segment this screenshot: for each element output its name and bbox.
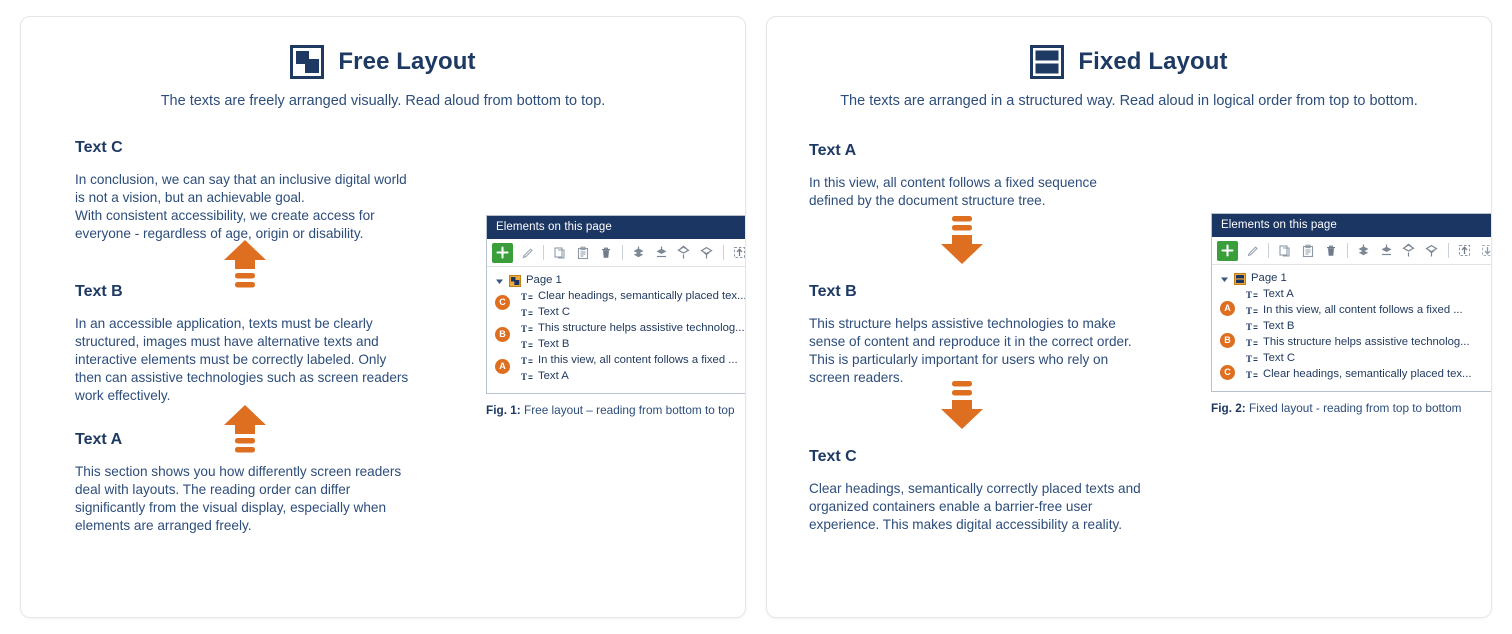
text-block-b-fixed: Text B This structure helps assistive te… xyxy=(809,283,1169,387)
svg-text:T: T xyxy=(1246,322,1252,332)
text-block-heading: Text C xyxy=(75,139,435,157)
text-block-body: In conclusion, we can say that an inclus… xyxy=(75,171,435,243)
elements-panel-titlebar: Elements on this page xyxy=(487,216,746,239)
panel-free-layout: Free Layout The texts are freely arrange… xyxy=(20,16,746,618)
elements-panel-free: Elements on this page xyxy=(486,215,746,394)
paste-button[interactable] xyxy=(1298,240,1318,261)
figure-caption-text: Free layout – reading from bottom to top xyxy=(524,403,735,417)
text-block-heading: Text B xyxy=(809,283,1169,301)
text-block-body: This section shows you how differently s… xyxy=(75,463,435,535)
svg-text:T: T xyxy=(1246,354,1252,364)
figure-fixed-layout: Elements on this page xyxy=(1211,213,1492,415)
text-element-icon: T xyxy=(1246,321,1258,333)
reading-order-arrow-up-1 xyxy=(221,238,269,290)
reading-order-arrow-up-2 xyxy=(221,403,269,455)
text-element-icon: T xyxy=(521,339,533,351)
panel-subtitle-free: The texts are freely arranged visually. … xyxy=(21,93,745,109)
move-to-top-button[interactable] xyxy=(1422,240,1442,261)
add-element-button[interactable] xyxy=(492,243,513,263)
elements-tree-fixed: Page 1 T Text A T In this v xyxy=(1212,265,1492,391)
reading-order-badge-b: B xyxy=(495,327,510,342)
panel-body-free: Text C In conclusion, we can say that an… xyxy=(21,131,745,601)
reading-order-badge-c: C xyxy=(1220,365,1235,380)
tree-root-row[interactable]: Page 1 xyxy=(487,273,746,289)
text-block-heading: Text A xyxy=(809,142,1169,160)
svg-text:T: T xyxy=(521,372,527,382)
tree-item-row[interactable]: T Text B xyxy=(1212,319,1492,335)
text-block-b-free: Text B In an accessible application, tex… xyxy=(75,283,435,405)
svg-text:T: T xyxy=(521,324,527,334)
tree-item-row[interactable]: T Text A xyxy=(487,369,746,385)
move-down-button[interactable] xyxy=(651,242,671,263)
tree-item-label: Text A xyxy=(538,371,569,382)
fixed-layout-page-icon xyxy=(1234,273,1246,285)
text-element-icon: T xyxy=(1246,369,1258,381)
text-block-a-fixed: Text A In this view, all content follows… xyxy=(809,142,1169,210)
text-block-c-fixed: Text C Clear headings, semantically corr… xyxy=(809,448,1169,534)
svg-text:T: T xyxy=(1246,370,1252,380)
tree-item-label: Text B xyxy=(1263,321,1294,332)
page-title-free: Free Layout xyxy=(338,48,475,76)
tree-item-row[interactable]: T In this view, all content follows a fi… xyxy=(487,353,746,369)
figure-caption-label: Fig. 1: xyxy=(486,403,521,417)
text-block-body: Clear headings, semantically correctly p… xyxy=(809,480,1169,534)
free-layout-icon xyxy=(290,45,324,79)
elements-panel-titlebar: Elements on this page xyxy=(1212,214,1492,237)
copy-button[interactable] xyxy=(1275,240,1295,261)
elements-panel-fixed: Elements on this page xyxy=(1211,213,1492,392)
svg-text:T: T xyxy=(521,308,527,318)
tree-item-label: Text C xyxy=(538,307,570,318)
svg-text:T: T xyxy=(521,292,527,302)
text-element-icon: T xyxy=(521,307,533,319)
outdent-button[interactable] xyxy=(730,242,747,263)
panel-header-fixed: Fixed Layout xyxy=(767,17,1491,79)
text-element-icon: T xyxy=(1246,337,1258,349)
tree-item-row[interactable]: T Text C xyxy=(1212,351,1492,367)
text-block-body: This structure helps assistive technolog… xyxy=(809,315,1169,387)
tree-item-label: Text A xyxy=(1263,289,1294,300)
toolbar-separator xyxy=(622,245,623,260)
reading-order-badge-a: A xyxy=(1220,301,1235,316)
text-element-icon: T xyxy=(521,323,533,335)
svg-text:T: T xyxy=(1246,306,1252,316)
toolbar-separator xyxy=(1448,243,1449,258)
move-down-button[interactable] xyxy=(1376,240,1396,261)
svg-text:T: T xyxy=(521,356,527,366)
figure-caption-label: Fig. 2: xyxy=(1211,401,1246,415)
text-block-body: In this view, all content follows a fixe… xyxy=(809,174,1169,210)
indent-button[interactable] xyxy=(1477,240,1492,261)
comparison-layout-stage: Free Layout The texts are freely arrange… xyxy=(0,0,1512,634)
reading-order-badge-b: B xyxy=(1220,333,1235,348)
tree-item-row[interactable]: T Text B xyxy=(487,337,746,353)
svg-text:T: T xyxy=(521,340,527,350)
tree-item-label: Text B xyxy=(538,339,569,350)
move-up-button[interactable] xyxy=(674,242,694,263)
text-element-icon: T xyxy=(521,371,533,383)
tree-root-label: Page 1 xyxy=(526,275,562,286)
edit-element-button[interactable] xyxy=(1243,240,1263,261)
panel-fixed-layout: Fixed Layout The texts are arranged in a… xyxy=(766,16,1492,618)
chevron-down-icon[interactable] xyxy=(1220,275,1229,284)
reading-order-arrow-down-1 xyxy=(938,214,986,266)
text-element-icon: T xyxy=(1246,353,1258,365)
tree-item-label: In this view, all content follows a fixe… xyxy=(1263,305,1463,316)
free-layout-page-icon xyxy=(509,275,521,287)
tree-item-label: This structure helps assistive technolog… xyxy=(1263,337,1470,348)
outdent-button[interactable] xyxy=(1455,240,1475,261)
edit-element-button[interactable] xyxy=(518,242,538,263)
fixed-layout-icon xyxy=(1030,45,1064,79)
move-to-bottom-button[interactable] xyxy=(629,242,649,263)
svg-text:T: T xyxy=(1246,290,1252,300)
toolbar-separator xyxy=(1347,243,1348,258)
panel-header-free: Free Layout xyxy=(21,17,745,79)
tree-root-row[interactable]: Page 1 xyxy=(1212,271,1492,287)
tree-item-label: Clear headings, semantically placed tex.… xyxy=(1263,369,1471,380)
tree-item-row[interactable]: T This structure helps assistive technol… xyxy=(1212,335,1492,351)
figure-free-layout: Elements on this page xyxy=(486,215,746,417)
reading-order-badge-c: C xyxy=(495,295,510,310)
toolbar-separator xyxy=(723,245,724,260)
page-title-fixed: Fixed Layout xyxy=(1078,48,1227,76)
svg-text:T: T xyxy=(1246,338,1252,348)
tree-item-row[interactable]: T Text C xyxy=(487,305,746,321)
move-to-top-button[interactable] xyxy=(697,242,717,263)
figure-caption-fixed: Fig. 2: Fixed layout - reading from top … xyxy=(1211,401,1492,415)
text-block-body: In an accessible application, texts must… xyxy=(75,315,435,405)
paste-button[interactable] xyxy=(573,242,593,263)
panel-body-fixed: Text A In this view, all content follows… xyxy=(767,131,1491,601)
text-block-heading: Text C xyxy=(809,448,1169,466)
tree-item-row[interactable]: T In this view, all content follows a fi… xyxy=(1212,303,1492,319)
toolbar-separator xyxy=(1268,243,1269,258)
copy-button[interactable] xyxy=(550,242,570,263)
toolbar-separator xyxy=(543,245,544,260)
tree-item-row[interactable]: T Text A xyxy=(1212,287,1492,303)
delete-button[interactable] xyxy=(1321,240,1341,261)
text-element-icon: T xyxy=(1246,305,1258,317)
tree-item-row[interactable]: T Clear headings, semantically placed te… xyxy=(1212,367,1492,383)
move-up-button[interactable] xyxy=(1399,240,1419,261)
add-element-button[interactable] xyxy=(1217,241,1238,261)
tree-item-label: Clear headings, semantically placed tex.… xyxy=(538,291,746,302)
reading-order-arrow-down-2 xyxy=(938,379,986,431)
tree-item-label: Text C xyxy=(1263,353,1295,364)
figure-caption-free: Fig. 1: Free layout – reading from botto… xyxy=(486,403,746,417)
text-element-icon: T xyxy=(521,291,533,303)
elements-tree-free: Page 1 T Clear headings, semantically pl… xyxy=(487,267,746,393)
figure-caption-text: Fixed layout - reading from top to botto… xyxy=(1249,401,1461,415)
tree-item-row[interactable]: T This structure helps assistive technol… xyxy=(487,321,746,337)
text-element-icon: T xyxy=(521,355,533,367)
reading-order-badge-a: A xyxy=(495,359,510,374)
chevron-down-icon[interactable] xyxy=(495,277,504,286)
text-block-c-free: Text C In conclusion, we can say that an… xyxy=(75,139,435,243)
elements-panel-toolbar xyxy=(1212,237,1492,265)
tree-item-row[interactable]: T Clear headings, semantically placed te… xyxy=(487,289,746,305)
tree-item-label: In this view, all content follows a fixe… xyxy=(538,355,738,366)
elements-panel-toolbar xyxy=(487,239,746,267)
move-to-bottom-button[interactable] xyxy=(1354,240,1374,261)
delete-button[interactable] xyxy=(596,242,616,263)
tree-root-label: Page 1 xyxy=(1251,273,1287,284)
text-element-icon: T xyxy=(1246,289,1258,301)
panel-subtitle-fixed: The texts are arranged in a structured w… xyxy=(767,93,1491,109)
tree-item-label: This structure helps assistive technolog… xyxy=(538,323,745,334)
